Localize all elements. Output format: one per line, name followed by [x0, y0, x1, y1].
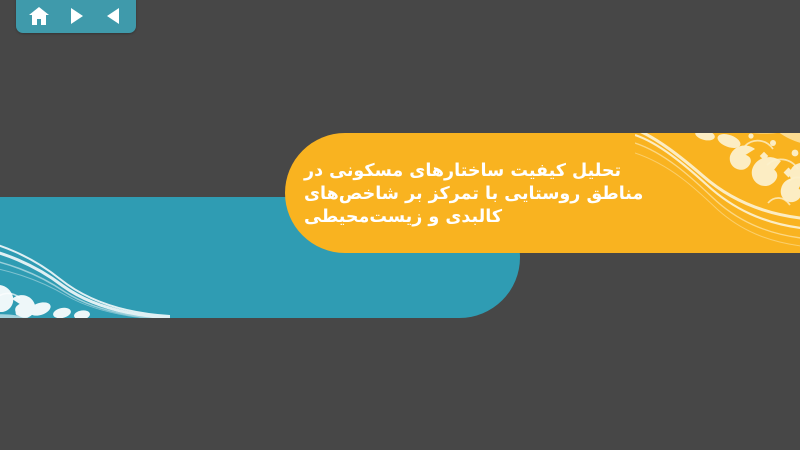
presentation-slide: تحلیل کیفیت ساختارهای مسکونی در مناطق رو…	[0, 0, 800, 450]
title-line-2: مناطق روستایی با تمرکز بر شاخص‌های	[304, 183, 643, 206]
triangle-right-icon	[68, 7, 85, 25]
home-icon	[29, 7, 49, 26]
slide-title: تحلیل کیفیت ساختارهای مسکونی در مناطق رو…	[304, 133, 784, 253]
triangle-left-icon	[105, 7, 122, 25]
home-slide-button[interactable]	[25, 3, 53, 29]
title-panel: تحلیل کیفیت ساختارهای مسکونی در مناطق رو…	[285, 133, 800, 253]
slide-navigation-bar[interactable]	[16, 0, 136, 33]
title-line-1: تحلیل کیفیت ساختارهای مسکونی در	[304, 160, 621, 183]
arabesque-corner-ornament-teal	[0, 197, 170, 318]
next-slide-button[interactable]	[62, 3, 90, 29]
previous-slide-button[interactable]	[99, 3, 127, 29]
title-line-3: کالبدی و زیست‌محیطی	[304, 206, 502, 229]
